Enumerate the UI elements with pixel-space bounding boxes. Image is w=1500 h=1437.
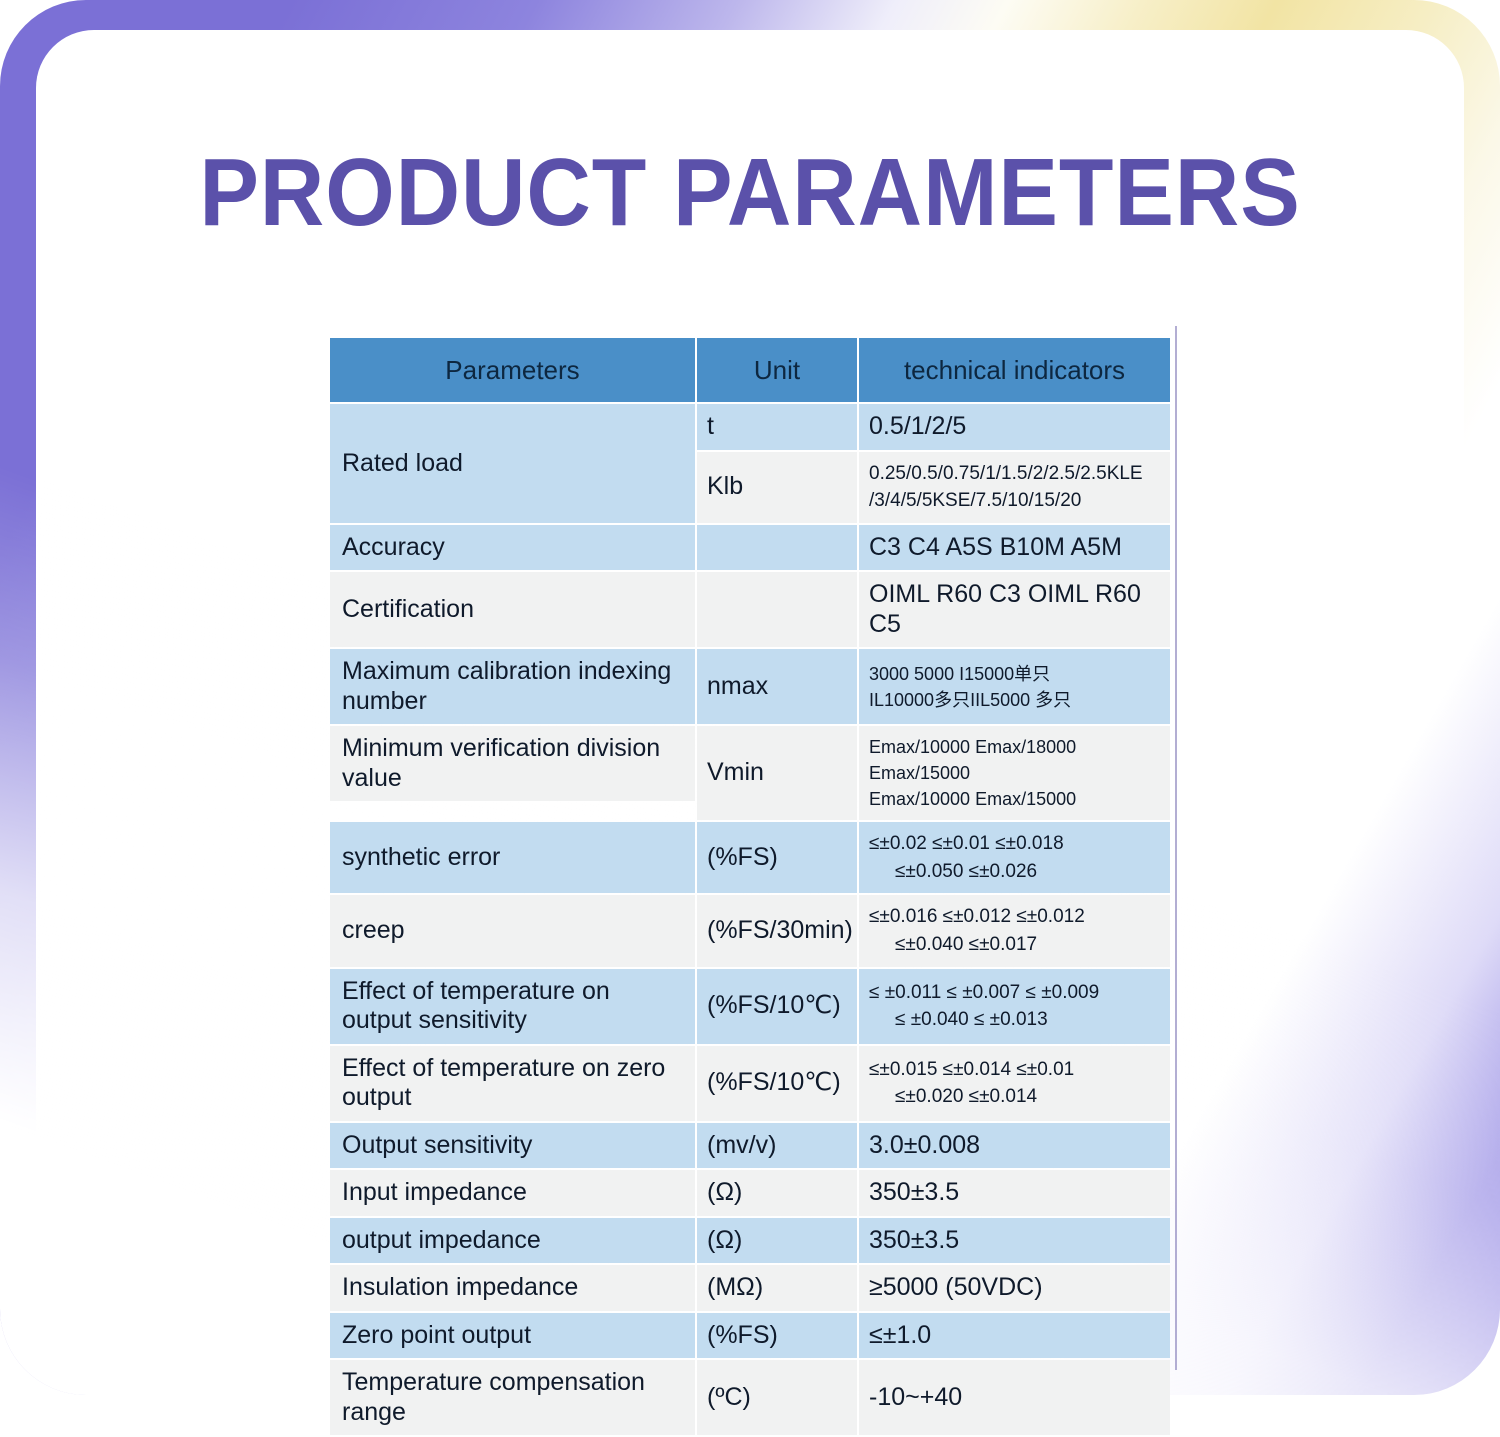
row-parameter-zero-point-output: Zero point output	[330, 1313, 695, 1359]
row-tech-creep: ≤±0.016 ≤±0.012 ≤±0.012 ≤±0.040 ≤±0.017	[859, 895, 1170, 966]
column-header-technical-indicators: technical indicators	[859, 338, 1170, 402]
row-unit-certification	[697, 572, 857, 647]
row-parameter-creep: creep	[330, 895, 695, 966]
row-parameter-temperature-compensation-range: Temperature compensation range	[330, 1360, 695, 1435]
row-unit-effect-temperature-zero-output: (%FS/10℃)	[697, 1046, 857, 1121]
table-row: Maximum calibration indexing number nmax…	[330, 649, 1170, 724]
row-unit-insulation-impedance: (MΩ)	[697, 1265, 857, 1311]
row-parameter-effect-temperature-output-sensitivity: Effect of temperature on output sensitiv…	[330, 969, 695, 1044]
tech-line-2: ≤±0.040 ≤±0.017	[869, 931, 1158, 959]
table-row: Zero point output (%FS) ≤±1.0	[330, 1313, 1170, 1359]
row-parameter-synthetic-error: synthetic error	[330, 822, 695, 893]
row-tech-max-calibration-indexing-number: 3000 5000 I15000单只 IL10000多只IIL5000 多只	[859, 649, 1170, 724]
tech-line-1: 0.25/0.5/0.75/1/1.5/2/2.5/2.5KLE	[869, 463, 1143, 484]
tech-line-2: Emax/10000 Emax/15000	[869, 786, 1158, 812]
row-unit-max-calibration-indexing-number: nmax	[697, 649, 857, 724]
row-unit-rated-load-t: t	[697, 404, 857, 450]
row-parameter-min-verification-division-value: Minimum verification division value	[330, 726, 695, 801]
table-row: Effect of temperature on output sensitiv…	[330, 969, 1170, 1044]
row-parameter-output-impedance: output impedance	[330, 1218, 695, 1264]
tech-line-1: ≤ ±0.011 ≤ ±0.007 ≤ ±0.009	[869, 982, 1099, 1003]
table-row: Rated load t 0.5/1/2/5	[330, 404, 1170, 450]
column-header-parameters: Parameters	[330, 338, 695, 402]
row-parameter-effect-temperature-zero-output: Effect of temperature on zero output	[330, 1046, 695, 1121]
tech-line-1: ≤±0.02 ≤±0.01 ≤±0.018	[869, 833, 1064, 854]
row-unit-accuracy	[697, 525, 857, 571]
row-unit-temperature-compensation-range: (ºC)	[697, 1360, 857, 1435]
page-title: PRODUCT PARAMETERS	[53, 138, 1448, 248]
row-unit-min-verification-division-value: Vmin	[697, 726, 857, 820]
table-row: creep (%FS/30min) ≤±0.016 ≤±0.012 ≤±0.01…	[330, 895, 1170, 966]
row-tech-rated-load-klb: 0.25/0.5/0.75/1/1.5/2/2.5/2.5KLE /3/4/5/…	[859, 452, 1170, 523]
row-unit-zero-point-output: (%FS)	[697, 1313, 857, 1359]
table-row: Temperature compensation range (ºC) -10~…	[330, 1360, 1170, 1435]
row-parameter-insulation-impedance: Insulation impedance	[330, 1265, 695, 1311]
row-unit-effect-temperature-output-sensitivity: (%FS/10℃)	[697, 969, 857, 1044]
table-row: Minimum verification division value Vmin…	[330, 726, 1170, 820]
row-unit-output-sensitivity: (mv/v)	[697, 1123, 857, 1169]
table-row: Output sensitivity (mv/v) 3.0±0.008	[330, 1123, 1170, 1169]
row-unit-input-impedance: (Ω)	[697, 1170, 857, 1216]
tech-line-2: /3/4/5/5KSE/7.5/10/15/20	[869, 487, 1158, 515]
row-parameter-max-calibration-indexing-number: Maximum calibration indexing number	[330, 649, 695, 724]
row-unit-creep: (%FS/30min)	[697, 895, 857, 966]
row-parameter-accuracy: Accuracy	[330, 525, 695, 571]
row-unit-rated-load-klb: Klb	[697, 452, 857, 523]
row-unit-output-impedance: (Ω)	[697, 1218, 857, 1264]
row-tech-temperature-compensation-range: -10~+40	[859, 1360, 1170, 1435]
tech-line-2: ≤±0.050 ≤±0.026	[869, 858, 1158, 886]
row-tech-insulation-impedance: ≥5000 (50VDC)	[859, 1265, 1170, 1311]
product-parameters-table: Parameters Unit technical indicators Rat…	[328, 336, 1172, 1437]
column-header-unit: Unit	[697, 338, 857, 402]
row-tech-synthetic-error: ≤±0.02 ≤±0.01 ≤±0.018 ≤±0.050 ≤±0.026	[859, 822, 1170, 893]
table-row: Accuracy C3 C4 A5S B10M A5M	[330, 525, 1170, 571]
table-row: Insulation impedance (MΩ) ≥5000 (50VDC)	[330, 1265, 1170, 1311]
table-row: Input impedance (Ω) 350±3.5	[330, 1170, 1170, 1216]
row-tech-effect-temperature-output-sensitivity: ≤ ±0.011 ≤ ±0.007 ≤ ±0.009 ≤ ±0.040 ≤ ±0…	[859, 969, 1170, 1044]
tech-line-2: ≤±0.020 ≤±0.014	[869, 1083, 1158, 1111]
table-row: Certification OIML R60 C3 OIML R60 C5	[330, 572, 1170, 647]
table-row: synthetic error (%FS) ≤±0.02 ≤±0.01 ≤±0.…	[330, 822, 1170, 893]
tech-line-1: ≤±0.015 ≤±0.014 ≤±0.01	[869, 1059, 1074, 1080]
row-tech-output-sensitivity: 3.0±0.008	[859, 1123, 1170, 1169]
tech-line-1: ≤±0.016 ≤±0.012 ≤±0.012	[869, 906, 1085, 927]
row-unit-synthetic-error: (%FS)	[697, 822, 857, 893]
row-tech-accuracy: C3 C4 A5S B10M A5M	[859, 525, 1170, 571]
row-tech-certification: OIML R60 C3 OIML R60 C5	[859, 572, 1170, 647]
row-parameter-output-sensitivity: Output sensitivity	[330, 1123, 695, 1169]
row-tech-input-impedance: 350±3.5	[859, 1170, 1170, 1216]
tech-line-1: 3000 5000 I15000单只	[869, 664, 1050, 684]
table-row: output impedance (Ω) 350±3.5	[330, 1218, 1170, 1264]
tech-line-2: ≤ ±0.040 ≤ ±0.013	[869, 1006, 1158, 1034]
tech-line-2: IL10000多只IIL5000 多只	[869, 687, 1158, 713]
table-header-row: Parameters Unit technical indicators	[330, 338, 1170, 402]
row-parameter-rated-load: Rated load	[330, 404, 695, 523]
table-right-rule	[1175, 326, 1177, 1370]
row-tech-rated-load-t: 0.5/1/2/5	[859, 404, 1170, 450]
row-tech-zero-point-output: ≤±1.0	[859, 1313, 1170, 1359]
table-row: Effect of temperature on zero output (%F…	[330, 1046, 1170, 1121]
row-tech-min-verification-division-value: Emax/10000 Emax/18000 Emax/15000 Emax/10…	[859, 726, 1170, 820]
row-tech-effect-temperature-zero-output: ≤±0.015 ≤±0.014 ≤±0.01 ≤±0.020 ≤±0.014	[859, 1046, 1170, 1121]
tech-line-1: Emax/10000 Emax/18000 Emax/15000	[869, 737, 1076, 783]
row-tech-output-impedance: 350±3.5	[859, 1218, 1170, 1264]
row-parameter-input-impedance: Input impedance	[330, 1170, 695, 1216]
row-parameter-certification: Certification	[330, 572, 695, 647]
